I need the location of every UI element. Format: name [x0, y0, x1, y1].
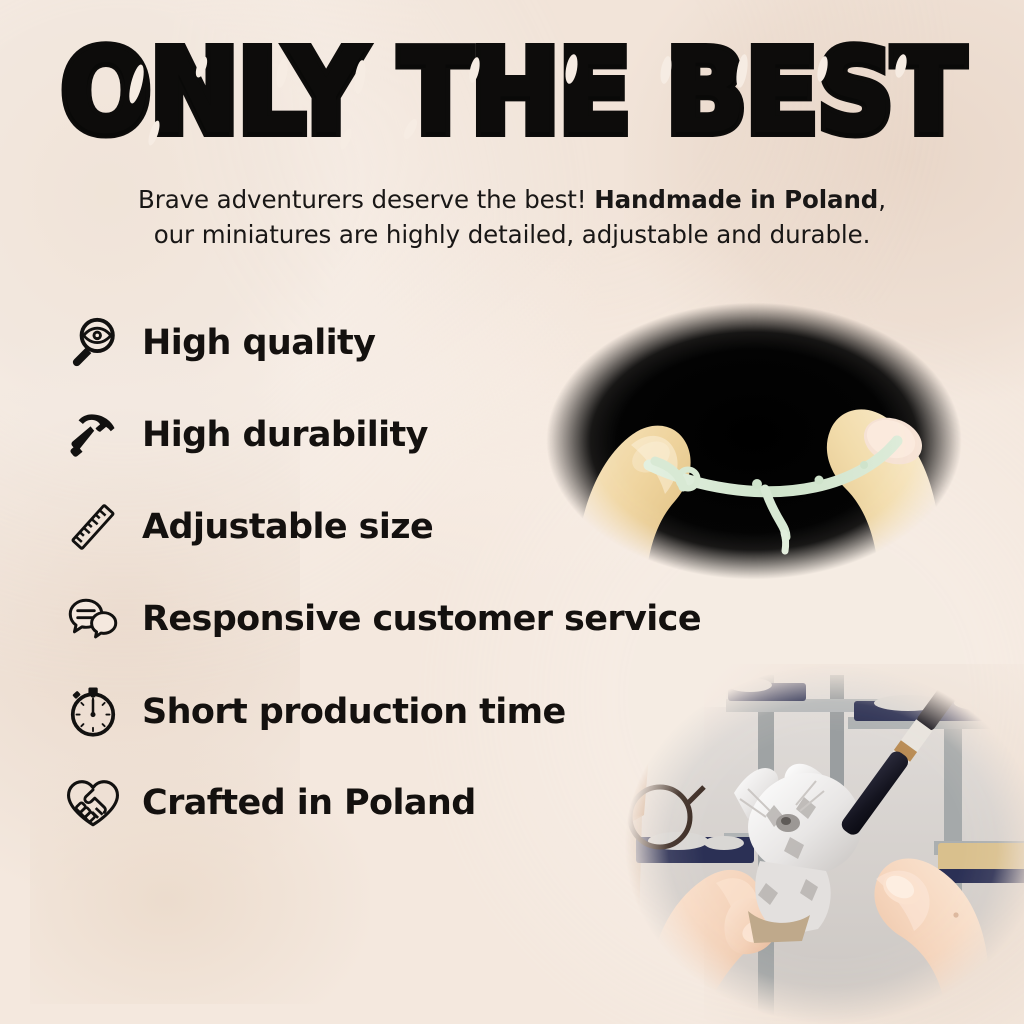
ruler-icon [62, 496, 124, 558]
feature-item-adjustable-size: Adjustable size [62, 496, 433, 558]
magnifier-eye-icon [62, 312, 124, 374]
subtitle-highlight: Handmade in Poland [594, 185, 878, 214]
speech-bubbles-icon [62, 588, 124, 650]
headline-container: ONLY THE BEST [0, 38, 1024, 137]
feature-item-crafted-in-poland: Crafted in Poland [62, 772, 476, 834]
feature-label: High quality [142, 323, 375, 363]
feature-item-high-durability: High durability [62, 404, 428, 466]
feature-item-production-time: Short production time [62, 681, 566, 743]
feature-label: Crafted in Poland [142, 783, 476, 823]
feature-label: Responsive customer service [142, 599, 701, 639]
feature-item-high-quality: High quality [62, 312, 375, 374]
feature-label: Short production time [142, 692, 566, 732]
subtitle-line2: our miniatures are highly detailed, adju… [154, 220, 871, 249]
hammer-icon [62, 404, 124, 466]
feature-label: Adjustable size [142, 507, 433, 547]
heart-handshake-icon [62, 772, 124, 834]
feature-label: High durability [142, 415, 428, 455]
flexible-miniature-photo [519, 281, 989, 601]
stopwatch-icon [62, 681, 124, 743]
page-title: ONLY THE BEST [60, 38, 963, 149]
infographic-canvas: ONLY THE BEST Brave adventurers deserve … [0, 0, 1024, 1024]
subtitle: Brave adventurers deserve the best! Hand… [97, 183, 927, 253]
painting-workshop-photo [608, 665, 1024, 1024]
subtitle-line1-prefix: Brave adventurers deserve the best! [138, 185, 594, 214]
subtitle-line1-suffix: , [878, 185, 886, 214]
